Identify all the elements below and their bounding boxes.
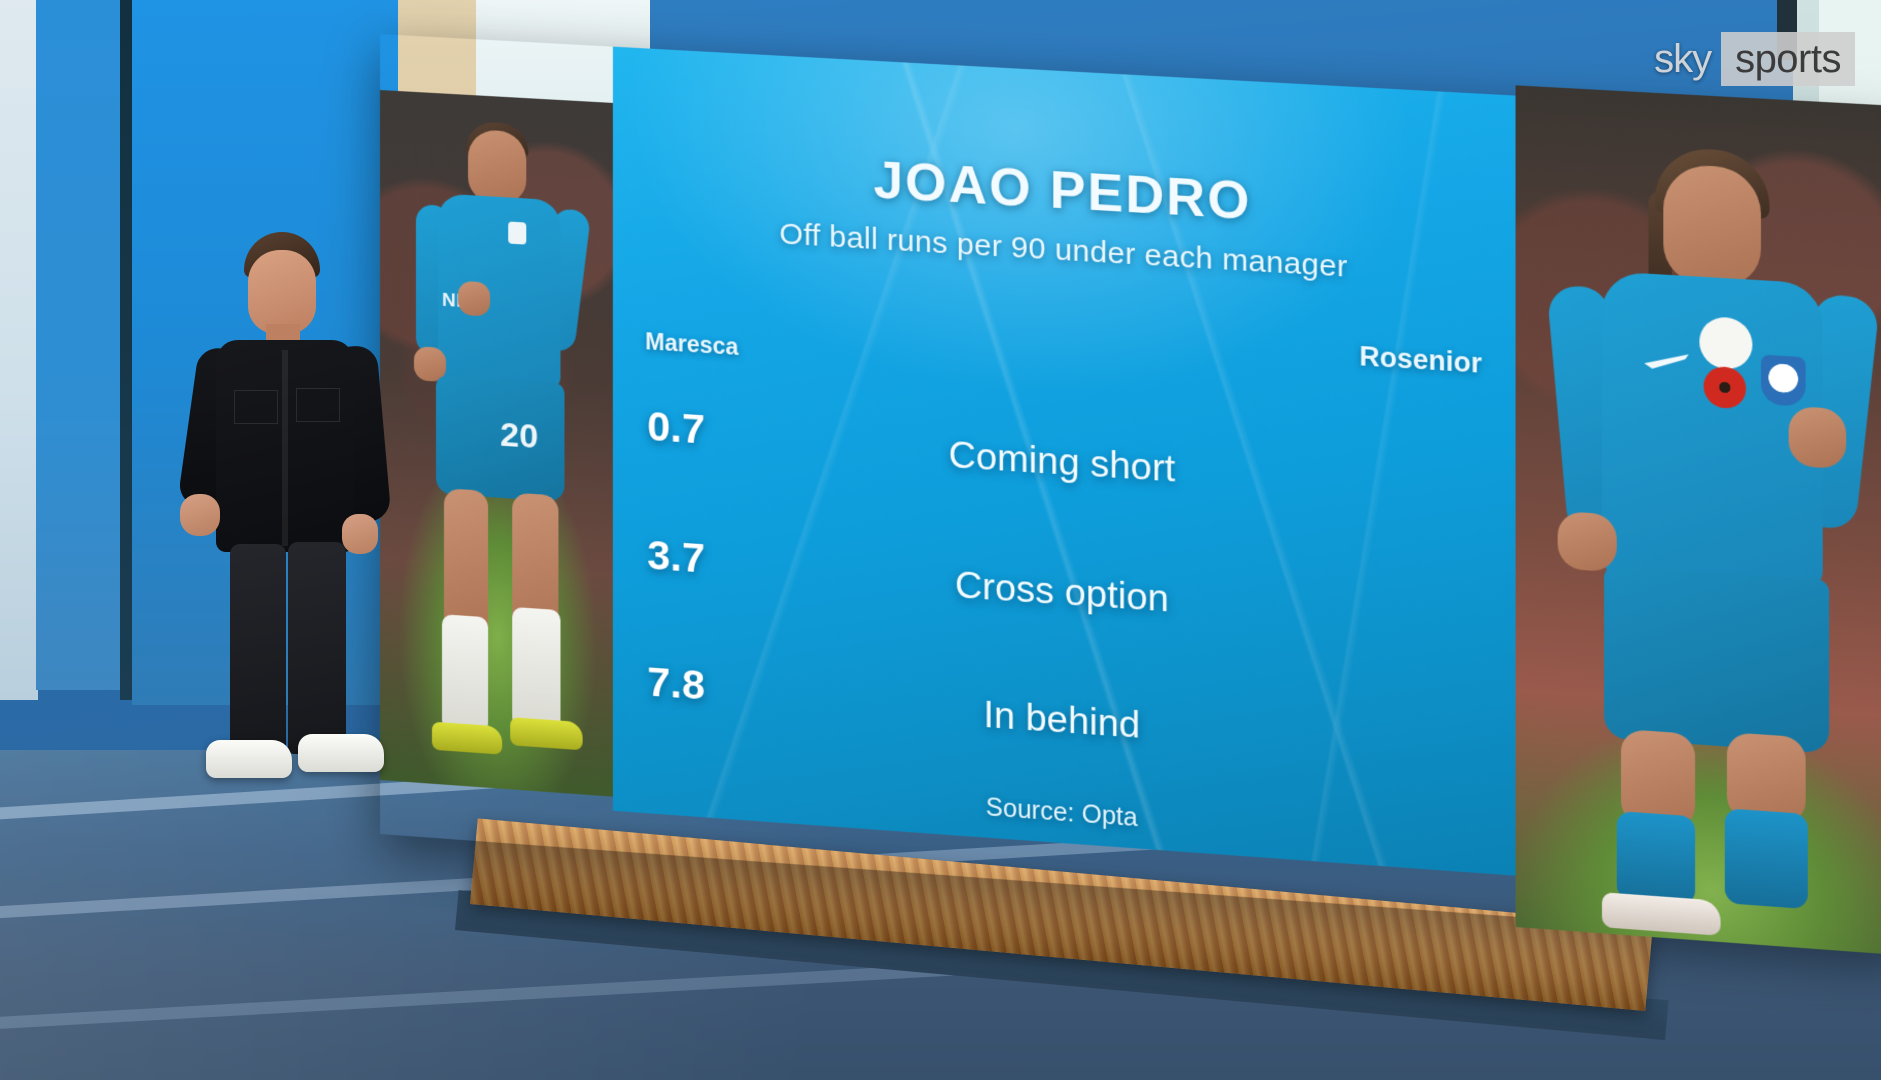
player-photo-left: NFS 20 bbox=[380, 90, 616, 797]
player-head bbox=[468, 129, 526, 205]
player-sock-right bbox=[1725, 808, 1808, 909]
sky-wordmark: sky bbox=[1650, 32, 1721, 86]
presenter-leg-right bbox=[288, 542, 346, 754]
player-head bbox=[1663, 163, 1761, 288]
presenter-shirt-placket bbox=[282, 350, 288, 546]
presenter-leg-left bbox=[230, 544, 286, 752]
player-boot-left bbox=[432, 722, 502, 755]
video-wall: NFS 20 JOAO PEDRO Off ball runs per 90 u… bbox=[380, 34, 1881, 946]
presenter-shirt-pocket bbox=[296, 388, 340, 422]
player-photo-right bbox=[1516, 85, 1881, 956]
presenter-shoe-right bbox=[298, 734, 384, 772]
presenter-hand-left bbox=[180, 494, 220, 536]
shorts-number: 20 bbox=[500, 416, 538, 458]
sky-sports-logo: sky sports bbox=[1650, 32, 1855, 86]
player-hand-right bbox=[458, 281, 490, 317]
stats-content: JOAO PEDRO Off ball runs per 90 under ea… bbox=[613, 47, 1520, 876]
column-header-maresca: Maresca bbox=[645, 328, 738, 361]
presenter bbox=[178, 232, 398, 792]
broadcast-screenshot: NFS 20 JOAO PEDRO Off ball runs per 90 u… bbox=[0, 0, 1881, 1080]
presenter-head bbox=[248, 250, 316, 334]
studio-wall-white-left bbox=[0, 0, 38, 700]
player-sock-right bbox=[512, 607, 560, 731]
presenter-shirt-pocket bbox=[234, 390, 278, 424]
player-hand-left bbox=[1558, 511, 1617, 572]
player-hand-right bbox=[1789, 406, 1847, 469]
column-header-rosenior: Rosenior bbox=[1359, 341, 1482, 380]
stats-graphic-panel: JOAO PEDRO Off ball runs per 90 under ea… bbox=[613, 47, 1520, 876]
player-sock-left bbox=[442, 614, 488, 733]
stat-label: Coming short bbox=[613, 413, 1520, 513]
player-shorts bbox=[1604, 565, 1829, 753]
studio-wall-blue-a bbox=[36, 0, 124, 690]
presenter-shoe-left bbox=[206, 740, 292, 778]
club-badge-icon bbox=[508, 221, 526, 244]
sports-wordmark: sports bbox=[1721, 32, 1855, 86]
presenter-hand-right bbox=[342, 514, 378, 554]
player-sock-left bbox=[1617, 811, 1695, 905]
club-badge-icon bbox=[1761, 355, 1806, 407]
player-boot-right bbox=[510, 717, 582, 750]
